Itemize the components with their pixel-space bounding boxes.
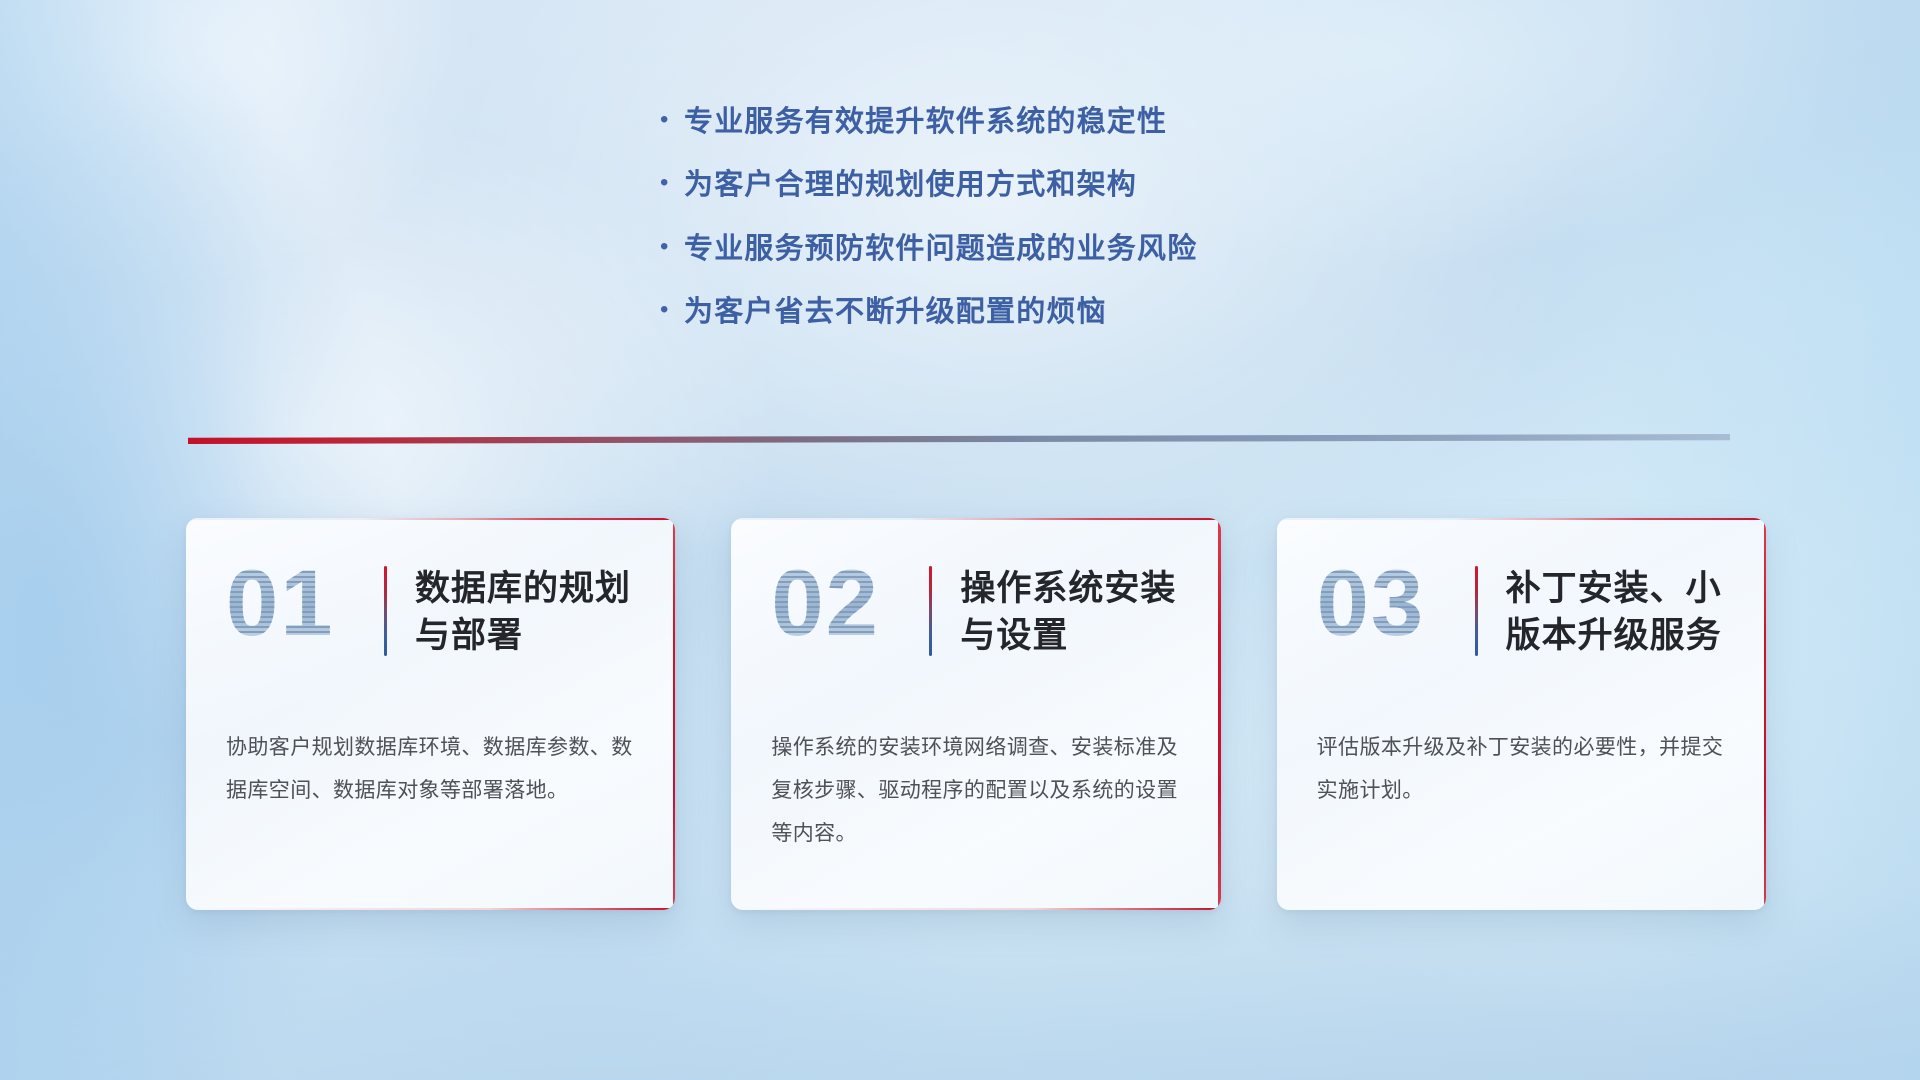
service-card-01[interactable]: 01 数据库的规划与部署 协助客户规划数据库环境、数据库参数、数据库空间、数据库… [186,518,675,910]
section-divider [188,434,1730,444]
card-title-rule [929,566,932,656]
card-title: 补丁安装、小版本升级服务 [1506,562,1726,660]
card-bottom-accent [731,908,1220,910]
bullet-dot-icon: • [660,298,684,322]
card-title: 数据库的规划与部署 [415,562,635,660]
service-card-02[interactable]: 02 操作系统安装与设置 操作系统的安装环境网络调查、安装标准及复核步骤、驱动程… [731,518,1220,910]
card-bottom-accent [186,908,675,910]
card-number-ghost: 02 [771,556,921,650]
card-body-text: 评估版本升级及补丁安装的必要性，并提交实施计划。 [1317,726,1726,812]
service-card-03[interactable]: 03 补丁安装、小版本升级服务 评估版本升级及补丁安装的必要性，并提交实施计划。 [1277,518,1766,910]
bullet-dot-icon: • [660,235,684,259]
card-title-rule [384,566,387,656]
card-header: 02 操作系统安装与设置 [771,562,1180,680]
bullet-text: 为客户省去不断升级配置的烦恼 [684,294,1107,330]
bullet-list: • 专业服务有效提升软件系统的稳定性 • 为客户合理的规划使用方式和架构 • 专… [660,104,1197,357]
card-header: 03 补丁安装、小版本升级服务 [1317,562,1726,680]
bullet-item: • 专业服务有效提升软件系统的稳定性 [660,104,1197,140]
card-title-rule [1475,566,1478,656]
card-title: 操作系统安装与设置 [960,562,1180,660]
bullet-dot-icon: • [660,108,684,132]
card-number-ghost: 01 [226,556,376,650]
card-body-text: 协助客户规划数据库环境、数据库参数、数据库空间、数据库对象等部署落地。 [226,726,635,812]
bullet-item: • 为客户省去不断升级配置的烦恼 [660,294,1197,330]
card-row: 01 数据库的规划与部署 协助客户规划数据库环境、数据库参数、数据库空间、数据库… [186,518,1766,910]
bullet-item: • 为客户合理的规划使用方式和架构 [660,167,1197,203]
bullet-item: • 专业服务预防软件问题造成的业务风险 [660,231,1197,267]
bullet-text: 为客户合理的规划使用方式和架构 [684,167,1137,203]
card-body-text: 操作系统的安装环境网络调查、安装标准及复核步骤、驱动程序的配置以及系统的设置等内… [771,726,1180,855]
bullet-text: 专业服务有效提升软件系统的稳定性 [684,104,1167,140]
bullet-dot-icon: • [660,171,684,195]
divider-blade [188,434,1730,444]
card-number-ghost: 03 [1317,556,1467,650]
card-header: 01 数据库的规划与部署 [226,562,635,680]
bullet-text: 专业服务预防软件问题造成的业务风险 [684,231,1197,267]
slide-canvas: • 专业服务有效提升软件系统的稳定性 • 为客户合理的规划使用方式和架构 • 专… [0,0,1920,1080]
